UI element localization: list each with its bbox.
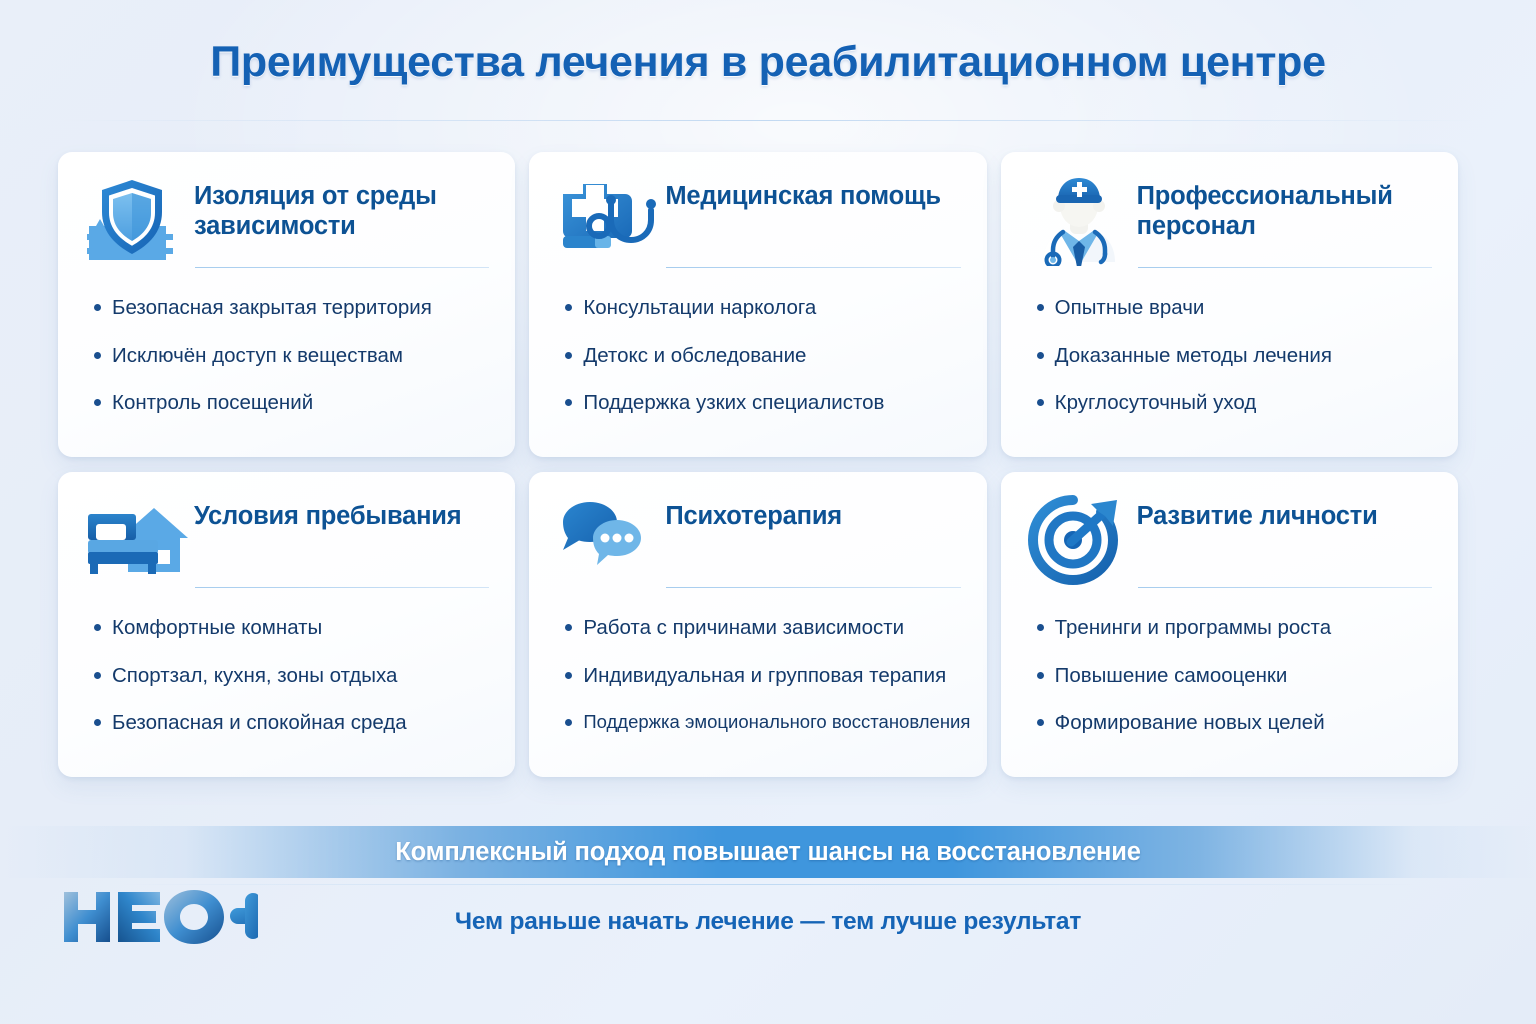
list-item: Работа с причинами зависимости (565, 615, 966, 641)
bullet-text: Повышение самооценки (1055, 663, 1288, 689)
doctor-icon (1027, 174, 1123, 266)
bed-house-icon (84, 494, 180, 586)
bullet-text: Контроль посещений (112, 390, 313, 416)
bullet-list: Работа с причинами зависимости Индивидуа… (565, 615, 966, 755)
list-item: Круглосуточный уход (1037, 390, 1438, 416)
bullet-dot (94, 672, 101, 679)
card-divider (666, 587, 960, 588)
list-item: Спортзал, кухня, зоны отдыха (94, 663, 495, 689)
card-header: Психотерапия (555, 494, 960, 586)
list-item: Индивидуальная и групповая терапия (565, 663, 966, 689)
list-item: Повышение самооценки (1037, 663, 1438, 689)
card-divider (1138, 267, 1432, 268)
list-item: Детокс и обследование (565, 343, 966, 369)
bullet-dot (565, 672, 572, 679)
card-title: Условия пребывания (194, 494, 461, 532)
bullet-dot (1037, 624, 1044, 631)
speech-bubbles-icon (555, 494, 651, 586)
bullet-dot (94, 352, 101, 359)
bullet-list: Тренинги и программы роста Повышение сам… (1037, 615, 1438, 758)
card-header: Изоляция от среды зависимости (84, 174, 489, 266)
card-divider (666, 267, 960, 268)
bullet-dot (94, 399, 101, 406)
card-psychotherapy[interactable]: Психотерапия Работа с причинами зависимо… (529, 472, 986, 777)
bullet-text: Детокс и обследование (583, 343, 806, 369)
bullet-text: Круглосуточный уход (1055, 390, 1257, 416)
bullet-text: Консультации нарколога (583, 295, 816, 321)
card-title: Развитие личности (1137, 494, 1378, 532)
banner-text: Комплексный подход повышает шансы на вос… (395, 838, 1140, 867)
bullet-text: Комфортные комнаты (112, 615, 322, 641)
card-medical-help[interactable]: Медицинская помощь Консультации нарколог… (529, 152, 986, 457)
summary-banner: Комплексный подход повышает шансы на вос… (0, 826, 1536, 878)
bullet-text: Доказанные методы лечения (1055, 343, 1332, 369)
list-item: Поддержка эмоционального восстановления (565, 710, 966, 733)
target-arrow-icon (1027, 494, 1123, 586)
bullet-dot (565, 719, 572, 726)
bullet-dot (1037, 672, 1044, 679)
bullet-list: Комфортные комнаты Спортзал, кухня, зоны… (94, 615, 495, 758)
bullet-dot (94, 624, 101, 631)
bullet-text: Тренинги и программы роста (1055, 615, 1331, 641)
banner-underline (120, 884, 1416, 885)
bullet-dot (565, 399, 572, 406)
bullet-dot (1037, 352, 1044, 359)
bullet-text: Поддержка эмоционального восстановления (583, 710, 970, 733)
shield-fence-icon (84, 174, 180, 266)
list-item: Исключён доступ к веществам (94, 343, 495, 369)
card-personal-development[interactable]: Развитие личности Тренинги и программы р… (1001, 472, 1458, 777)
page-title: Преимущества лечения в реабилитационном … (0, 38, 1536, 87)
card-isolation[interactable]: Изоляция от среды зависимости Безопасная… (58, 152, 515, 457)
card-divider (195, 267, 489, 268)
bullet-text: Безопасная закрытая территория (112, 295, 432, 321)
bullet-text: Индивидуальная и групповая терапия (583, 663, 946, 689)
list-item: Безопасная закрытая территория (94, 295, 495, 321)
card-header: Профессиональный персонал (1027, 174, 1432, 266)
bullet-dot (565, 352, 572, 359)
list-item: Консультации нарколога (565, 295, 966, 321)
card-title: Психотерапия (665, 494, 842, 532)
list-item: Комфортные комнаты (94, 615, 495, 641)
bullet-dot (1037, 399, 1044, 406)
bullet-text: Опытные врачи (1055, 295, 1205, 321)
bullet-text: Исключён доступ к веществам (112, 343, 403, 369)
bullet-dot (1037, 304, 1044, 311)
bullet-dot (1037, 719, 1044, 726)
medical-bag-stethoscope-icon (555, 174, 651, 266)
card-header: Медицинская помощь (555, 174, 960, 266)
list-item: Формирование новых целей (1037, 710, 1438, 736)
card-divider (1138, 587, 1432, 588)
card-header: Условия пребывания (84, 494, 489, 586)
footer: Чем раньше начать лечение — тем лучше ре… (0, 890, 1536, 954)
bullet-dot (94, 304, 101, 311)
list-item: Поддержка узких специалистов (565, 390, 966, 416)
list-item: Контроль посещений (94, 390, 495, 416)
list-item: Тренинги и программы роста (1037, 615, 1438, 641)
footer-tagline: Чем раньше начать лечение — тем лучше ре… (0, 908, 1536, 936)
list-item: Опытные врачи (1037, 295, 1438, 321)
bullet-dot (565, 304, 572, 311)
bullet-text: Поддержка узких специалистов (583, 390, 884, 416)
bullet-dot (565, 624, 572, 631)
bullet-list: Безопасная закрытая территория Исключён … (94, 295, 495, 438)
list-item: Безопасная и спокойная среда (94, 710, 495, 736)
bullet-text: Работа с причинами зависимости (583, 615, 904, 641)
bullet-text: Спортзал, кухня, зоны отдыха (112, 663, 397, 689)
card-header: Развитие личности (1027, 494, 1432, 586)
card-title: Профессиональный персонал (1137, 174, 1432, 242)
benefits-grid: Изоляция от среды зависимости Безопасная… (58, 152, 1458, 777)
card-living-conditions[interactable]: Условия пребывания Комфортные комнаты Сп… (58, 472, 515, 777)
title-divider (60, 120, 1476, 121)
bullet-dot (94, 719, 101, 726)
card-title: Изоляция от среды зависимости (194, 174, 489, 242)
bullet-text: Безопасная и спокойная среда (112, 710, 407, 736)
bullet-text: Формирование новых целей (1055, 710, 1325, 736)
card-title: Медицинская помощь (665, 174, 940, 212)
bullet-list: Опытные врачи Доказанные методы лечения … (1037, 295, 1438, 438)
bullet-list: Консультации нарколога Детокс и обследов… (565, 295, 966, 438)
card-professional-staff[interactable]: Профессиональный персонал Опытные врачи … (1001, 152, 1458, 457)
list-item: Доказанные методы лечения (1037, 343, 1438, 369)
card-divider (195, 587, 489, 588)
